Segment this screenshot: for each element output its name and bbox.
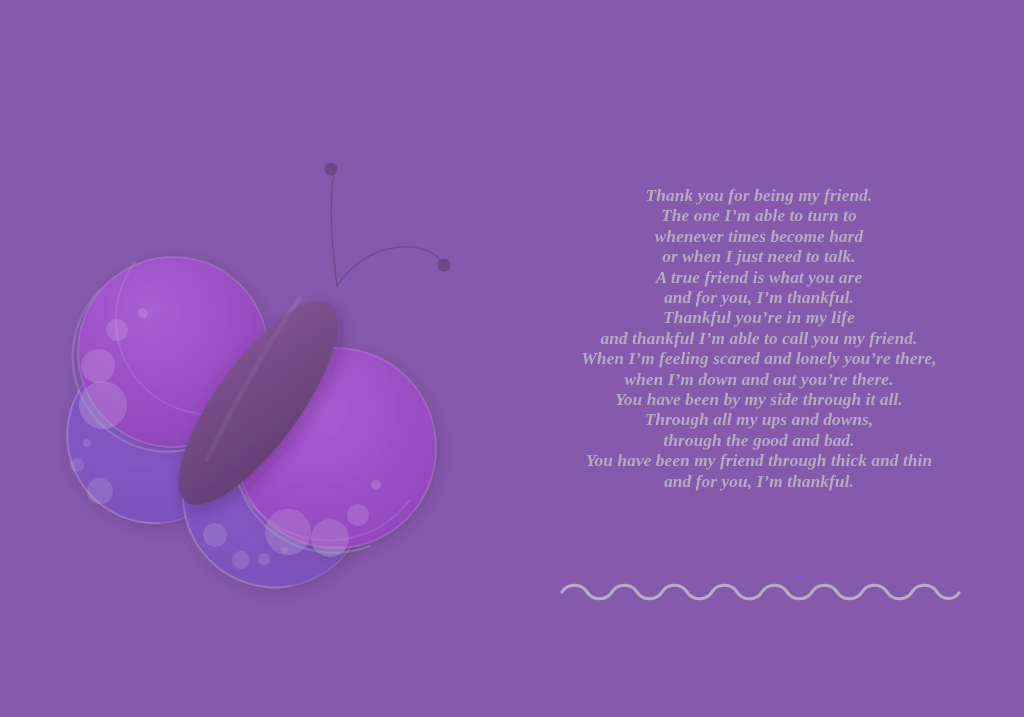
butterfly-illustration: [40, 140, 490, 580]
poster-canvas: Thank you for being my friend. The one I…: [0, 0, 1024, 717]
antenna-tip-left-icon: [325, 163, 338, 176]
poem-text-block: Thank you for being my friend. The one I…: [558, 186, 960, 492]
poem-line: You have been my friend through thick an…: [558, 451, 960, 471]
poem-line: The one I’m able to turn to: [558, 206, 960, 226]
poem-line: Through all my ups and downs,: [558, 410, 960, 430]
poem-line: and thankful I’m able to call you my fri…: [558, 329, 960, 349]
poem-line: You have been by my side through it all.: [558, 390, 960, 410]
poem-line: When I’m feeling scared and lonely you’r…: [558, 349, 960, 369]
wavy-line-path: [562, 585, 959, 599]
poem-line: Thankful you’re in my life: [558, 308, 960, 328]
poem-line: whenever times become hard: [558, 227, 960, 247]
poem-line: through the good and bad.: [558, 431, 960, 451]
poem-line: and for you, I’m thankful.: [558, 288, 960, 308]
wavy-divider: [556, 578, 964, 604]
poem-line: Thank you for being my friend.: [558, 186, 960, 206]
antenna-left: [331, 169, 337, 286]
antenna-tip-right-icon: [438, 259, 451, 272]
antennae: [325, 163, 451, 287]
poem-line: or when I just need to talk.: [558, 247, 960, 267]
antenna-right: [337, 247, 443, 286]
poem-line: A true friend is what you are: [558, 268, 960, 288]
poem-line: when I’m down and out you’re there.: [558, 370, 960, 390]
poem-line: and for you, I’m thankful.: [558, 472, 960, 492]
